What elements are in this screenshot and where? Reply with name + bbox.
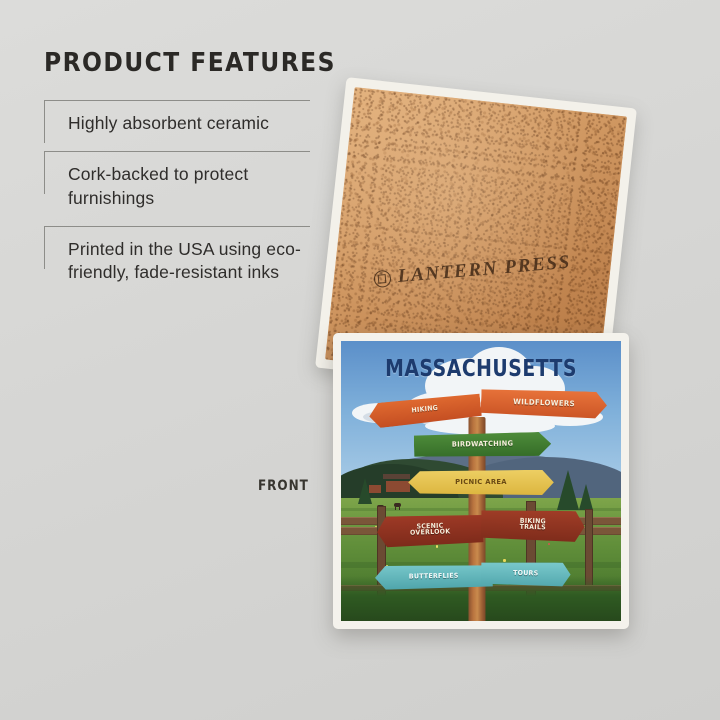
feature-text: Cork-backed to protect furnishings bbox=[68, 163, 310, 210]
brand-stamp: LANTERN PRESS bbox=[373, 251, 572, 289]
sign-birdwatching[interactable]: BIRDWATCHING bbox=[414, 432, 552, 458]
coaster-artwork: HIKING WILDFLOWERS BIRDWATCHING PICNIC A… bbox=[341, 341, 621, 621]
pine-tree bbox=[557, 470, 579, 510]
barn bbox=[386, 481, 410, 492]
label-front: FRONT bbox=[258, 478, 309, 494]
coaster-front: HIKING WILDFLOWERS BIRDWATCHING PICNIC A… bbox=[333, 333, 629, 629]
feature-item: Highly absorbent ceramic bbox=[44, 100, 310, 149]
horse bbox=[394, 503, 401, 507]
sign-tours[interactable]: TOURS bbox=[481, 561, 571, 586]
sign-biking-trails[interactable]: BIKING TRAILS bbox=[481, 509, 585, 542]
artwork-title: MASSACHUSETTS bbox=[366, 356, 596, 382]
pine-tree bbox=[358, 478, 372, 504]
sign-picnic-area[interactable]: PICNIC AREA bbox=[408, 470, 554, 495]
brand-name: LANTERN PRESS bbox=[397, 251, 572, 287]
lantern-icon bbox=[373, 269, 391, 287]
sign-butterflies[interactable]: BUTTERFLIES bbox=[374, 564, 492, 590]
feature-item: Cork-backed to protect furnishings bbox=[44, 151, 310, 224]
page-title: PRODUCT FEATURES bbox=[44, 48, 283, 78]
sign-scenic-overlook[interactable]: SCENIC OVERLOOK bbox=[377, 513, 484, 547]
feature-text: Printed in the USA using eco-friendly, f… bbox=[68, 238, 310, 285]
feature-item: Printed in the USA using eco-friendly, f… bbox=[44, 226, 310, 299]
pine-tree bbox=[579, 484, 593, 510]
feature-text: Highly absorbent ceramic bbox=[68, 112, 310, 135]
product-features-panel: PRODUCT FEATURES Highly absorbent cerami… bbox=[44, 48, 310, 300]
barn-roof bbox=[383, 474, 410, 479]
wildflower bbox=[503, 559, 505, 561]
